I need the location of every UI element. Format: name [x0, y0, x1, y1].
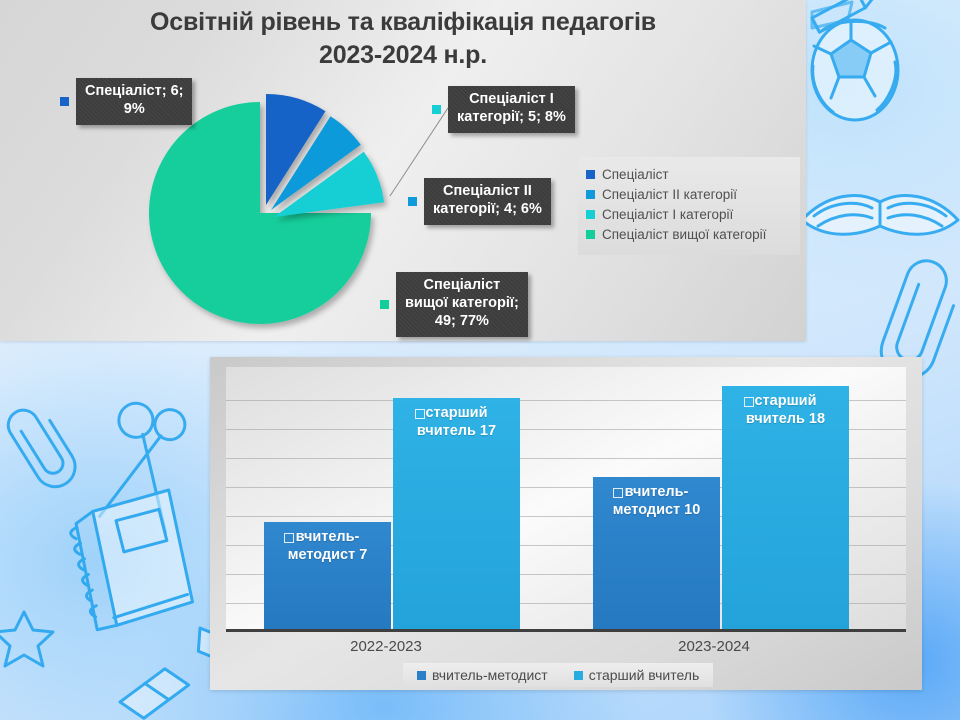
x-axis — [226, 629, 906, 632]
legend-label: Спеціаліст — [602, 167, 669, 182]
legend-item-specialist-cat-2: Спеціаліст ІІ категорії — [586, 187, 796, 202]
bar-label: вчитель- методист 7 — [264, 528, 391, 564]
pie-label-marker — [432, 105, 441, 114]
bar-plot-area: вчитель- методист 7 старший вчитель 17 в… — [226, 367, 906, 632]
bar-2022-2023-teacher-methodist[interactable]: вчитель- методист 7 — [264, 522, 391, 629]
eraser-icon — [115, 663, 194, 720]
x-axis-categories: 2022-2023 2023-2024 — [226, 638, 906, 660]
legend-item-specialist: Спеціаліст — [586, 167, 796, 182]
legend-item-specialist-cat-1: Спеціаліст І категорії — [586, 207, 796, 222]
title-line-1: Освітній рівень та кваліфікація педагогі… — [150, 8, 656, 36]
legend-swatch — [586, 190, 595, 199]
legend-swatch — [574, 671, 583, 680]
bar-chart-panel: вчитель- методист 7 старший вчитель 17 в… — [210, 357, 922, 690]
bar-label: старший вчитель 17 — [393, 404, 520, 440]
legend-label: вчитель-методист — [432, 667, 548, 683]
pie-label-text: Спеціаліст вищої категорії; 49; 77% — [396, 272, 528, 337]
legend-item-teacher-methodist: вчитель-методист — [417, 667, 548, 683]
legend-label: Спеціаліст вищої категорії — [602, 227, 766, 242]
bar-2022-2023-senior-teacher[interactable]: старший вчитель 17 — [393, 398, 520, 629]
legend-label: Спеціаліст ІІ категорії — [602, 187, 737, 202]
legend-item-specialist-highest: Спеціаліст вищої категорії — [586, 227, 796, 242]
bar-2023-2024-teacher-methodist[interactable]: вчитель- методист 10 — [593, 477, 720, 629]
open-book-icon — [802, 196, 958, 235]
star-icon — [0, 612, 53, 666]
pie-label-marker — [408, 197, 417, 206]
page-title: Освітній рівень та кваліфікація педагогі… — [0, 6, 806, 71]
bar-legend: вчитель-методист старший вчитель — [403, 663, 713, 687]
pie-label-text: Спеціаліст І категорії; 5; 8% — [448, 86, 575, 133]
pie-label-specialist-cat-1: Спеціаліст І категорії; 5; 8% — [432, 86, 575, 133]
legend-label: старший вчитель — [589, 667, 700, 683]
bar-2023-2024-senior-teacher[interactable]: старший вчитель 18 — [722, 386, 849, 629]
title-line-2: 2023-2024 н.р. — [0, 39, 806, 72]
legend-swatch — [586, 170, 595, 179]
notebook-icon — [67, 489, 195, 632]
pie-label-specialist-cat-2: Спеціаліст ІІ категорії; 4; 6% — [408, 178, 551, 225]
category-label-2022-2023: 2022-2023 — [326, 638, 446, 655]
bar-label: вчитель- методист 10 — [593, 483, 720, 519]
legend-item-senior-teacher: старший вчитель — [574, 667, 700, 683]
pie-label-marker — [380, 300, 389, 309]
legend-label: Спеціаліст І категорії — [602, 207, 733, 222]
pie-label-marker — [60, 97, 69, 106]
soccer-ball-icon — [812, 20, 898, 120]
legend-swatch — [417, 671, 426, 680]
legend-swatch — [586, 210, 595, 219]
pie-chart-panel: Освітній рівень та кваліфікація педагогі… — [0, 0, 806, 341]
pie-label-specialist-highest: Спеціаліст вищої категорії; 49; 77% — [380, 272, 528, 337]
bar-label: старший вчитель 18 — [722, 392, 849, 428]
category-label-2023-2024: 2023-2024 — [654, 638, 774, 655]
legend-swatch — [586, 230, 595, 239]
slide: Освітній рівень та кваліфікація педагогі… — [0, 0, 960, 720]
pie-label-text: Спеціаліст; 6; 9% — [76, 78, 192, 125]
paper-clip-icon — [3, 399, 83, 494]
pie-label-text: Спеціаліст ІІ категорії; 4; 6% — [424, 178, 551, 225]
pie-legend: Спеціаліст Спеціаліст ІІ категорії Спеці… — [578, 157, 800, 255]
pie-label-specialist: Спеціаліст; 6; 9% — [60, 78, 192, 125]
